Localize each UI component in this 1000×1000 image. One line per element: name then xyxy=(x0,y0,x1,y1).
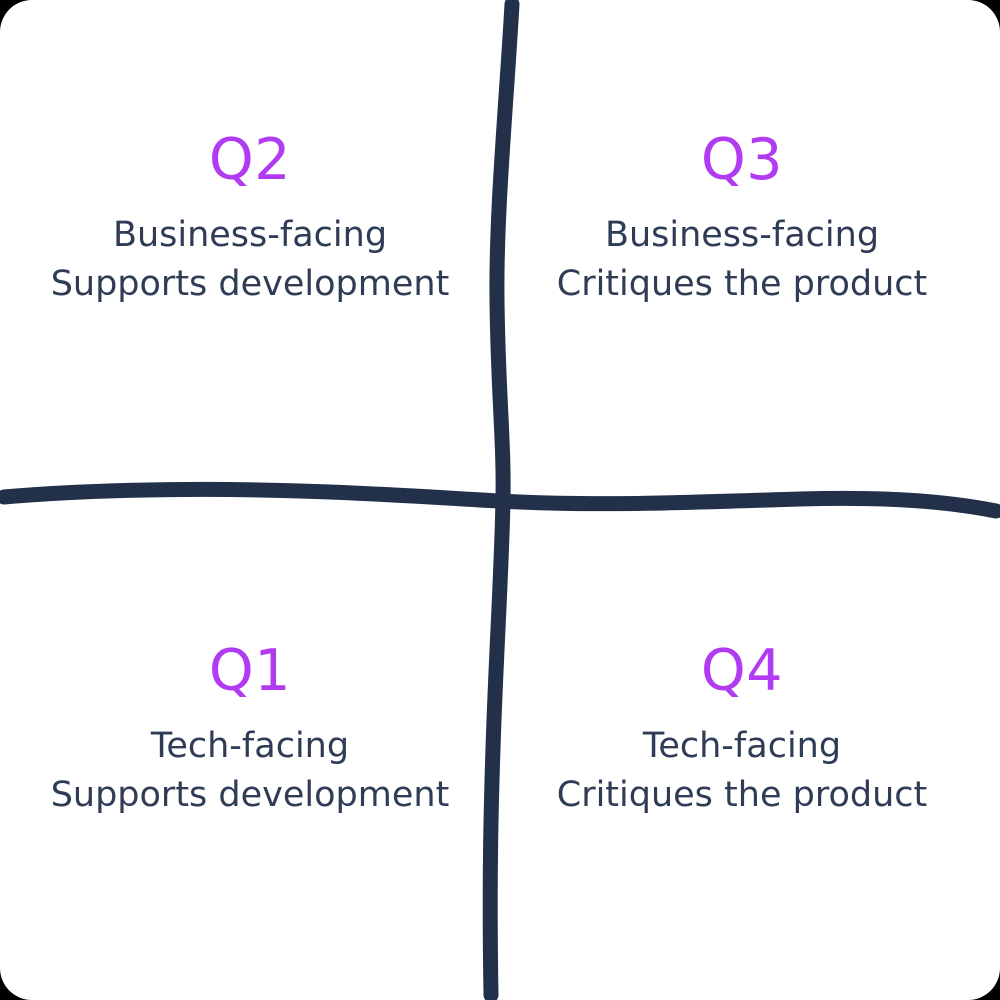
quadrant-q2-title: Q2 xyxy=(209,132,291,189)
quadrant-q4-title: Q4 xyxy=(701,643,783,700)
quadrant-q2-line-1: Business-facing xyxy=(51,211,450,260)
quadrant-q1-description: Tech-facing Supports development xyxy=(51,722,450,820)
quadrant-q1-title: Q1 xyxy=(209,643,291,700)
quadrant-q3: Q3 Business-facing Critiques the product xyxy=(492,132,992,309)
quadrant-q4-line-2: Critiques the product xyxy=(557,771,927,820)
horizontal-axis-line xyxy=(4,489,996,511)
quadrant-q2: Q2 Business-facing Supports development xyxy=(0,132,500,309)
quadrant-q1-line-2: Supports development xyxy=(51,771,450,820)
quadrant-diagram-canvas: Q2 Business-facing Supports development … xyxy=(0,0,1000,1000)
quadrant-q3-line-2: Critiques the product xyxy=(557,260,927,309)
quadrant-q4-description: Tech-facing Critiques the product xyxy=(557,722,927,820)
quadrant-q2-description: Business-facing Supports development xyxy=(51,211,450,309)
quadrant-q1: Q1 Tech-facing Supports development xyxy=(0,643,500,820)
quadrant-q3-title: Q3 xyxy=(701,132,783,189)
quadrant-q1-line-1: Tech-facing xyxy=(51,722,450,771)
quadrant-q3-line-1: Business-facing xyxy=(557,211,927,260)
quadrant-q4-line-1: Tech-facing xyxy=(557,722,927,771)
quadrant-q3-description: Business-facing Critiques the product xyxy=(557,211,927,309)
quadrant-q2-line-2: Supports development xyxy=(51,260,450,309)
quadrant-q4: Q4 Tech-facing Critiques the product xyxy=(492,643,992,820)
